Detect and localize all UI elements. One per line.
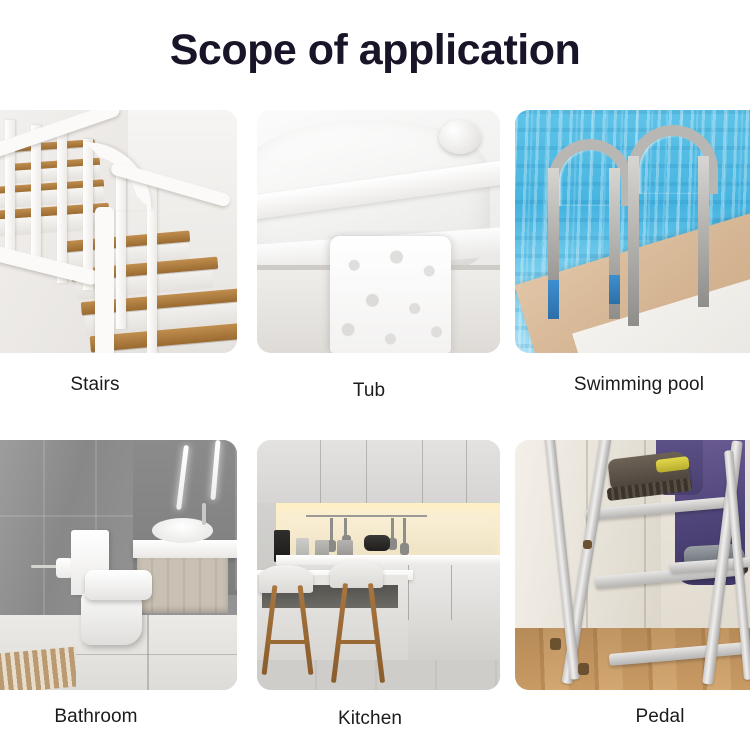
- caption-stairs: Stairs: [0, 374, 190, 396]
- kitchen-photo: [257, 440, 500, 690]
- page-title: Scope of application: [0, 28, 750, 73]
- tub-photo: [257, 110, 500, 353]
- gallery-row-1: [0, 110, 750, 353]
- stairs-photo: [0, 110, 237, 353]
- scope-of-application-page: Scope of application: [0, 0, 750, 750]
- gallery-tile-bathroom[interactable]: [0, 440, 237, 690]
- caption-bathroom: Bathroom: [0, 706, 192, 728]
- caption-kitchen: Kitchen: [300, 708, 440, 730]
- gallery-row-2: [0, 440, 750, 690]
- gallery-tile-stairs[interactable]: [0, 110, 237, 353]
- swimming-pool-photo: [515, 110, 750, 353]
- caption-swimming-pool: Swimming pool: [540, 374, 738, 396]
- caption-pedal: Pedal: [580, 706, 740, 728]
- gallery-tile-kitchen[interactable]: [257, 440, 500, 690]
- gallery-tile-swimming-pool[interactable]: [515, 110, 750, 353]
- gallery-tile-pedal[interactable]: [515, 440, 750, 690]
- gallery-tile-tub[interactable]: [257, 110, 500, 353]
- bathroom-photo: [0, 440, 237, 690]
- caption-tub: Tub: [300, 380, 438, 402]
- pedal-photo: [515, 440, 750, 690]
